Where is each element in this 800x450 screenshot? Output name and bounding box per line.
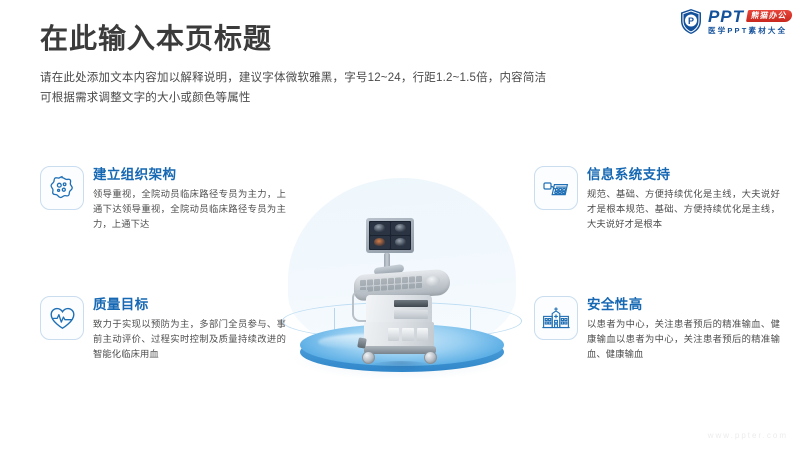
- scan-image: [370, 222, 390, 235]
- feature-card-organization[interactable]: 建立组织架构 领导重视，全院动员临床路径专员为主力，上通下达领导重视，全院动员临…: [40, 166, 286, 232]
- feature-description: 规范、基础、方便持续优化是主线，大夫说好才是根本规范、基础、方便持续优化是主线，…: [587, 187, 780, 232]
- monitor-screen: [366, 218, 414, 253]
- subtitle-line-2: 可根据需求调整文字的大小或颜色等属性: [40, 88, 740, 108]
- heart-pulse-icon: [40, 296, 84, 340]
- feature-title: 质量目标: [93, 297, 286, 313]
- cart-drawer: [394, 310, 428, 319]
- site-watermark: www.ppter.com: [708, 431, 788, 440]
- feature-card-quality-goal[interactable]: 质量目标 致力于实现以预防为主，多部门全员参与、事前主动评价、过程实时控制及质量…: [40, 296, 286, 362]
- page-subtitle: 请在此处添加文本内容加以解释说明，建议字体微软雅黑，字号12~24，行距1.2~…: [40, 68, 740, 108]
- scan-image: [391, 222, 411, 235]
- feature-card-safety[interactable]: 安全性高 以患者为中心，关注患者预后的精准输血、健康输血以患者为中心，关注患者预…: [534, 296, 780, 362]
- header-block: 在此输入本页标题 请在此处添加文本内容加以解释说明，建议字体微软雅黑，字号12~…: [40, 22, 740, 108]
- feature-description: 致力于实现以预防为主，多部门全员参与、事前主动评价、过程实时控制及质量持续改进的…: [93, 317, 286, 362]
- information-system-icon: [534, 166, 578, 210]
- feature-description: 以患者为中心，关注患者预后的精准输血、健康输血以患者为中心，关注患者预后的精准输…: [587, 317, 780, 362]
- scan-image-grid: [369, 221, 411, 250]
- cart-drive-slot: [394, 300, 428, 307]
- cart-reflection: [370, 361, 432, 371]
- cart-wheel: [362, 351, 375, 364]
- feature-description: 领导重视，全院动员临床路径专员为主力，上通下达领导重视，全院动员临床路径专员为主…: [93, 187, 286, 232]
- logo-badge: 熊猫办公: [746, 10, 793, 22]
- hospital-building-icon: [534, 296, 578, 340]
- cart-wheel: [424, 351, 437, 364]
- cart-pedal: [357, 337, 367, 348]
- ultrasound-machine-illustration: [278, 176, 526, 388]
- feature-title: 安全性高: [587, 297, 780, 313]
- feature-title: 信息系统支持: [587, 167, 780, 183]
- ultrasound-cart: [340, 218, 466, 364]
- feature-card-information-system[interactable]: 信息系统支持 规范、基础、方便持续优化是主线，大夫说好才是根本规范、基础、方便持…: [534, 166, 780, 232]
- scan-image-doppler: [370, 236, 390, 249]
- probe-button-row: [388, 328, 428, 341]
- feature-title: 建立组织架构: [93, 167, 286, 183]
- slide-canvas: P PPT 熊猫办公 医学PPT素材大全 在此输入本页标题 请在此处添加文本内容…: [0, 0, 800, 450]
- cell-organism-icon: [40, 166, 84, 210]
- subtitle-line-1: 请在此处添加文本内容加以解释说明，建议字体微软雅黑，字号12~24，行距1.2~…: [40, 68, 740, 88]
- scan-image: [391, 236, 411, 249]
- page-title: 在此输入本页标题: [40, 22, 740, 56]
